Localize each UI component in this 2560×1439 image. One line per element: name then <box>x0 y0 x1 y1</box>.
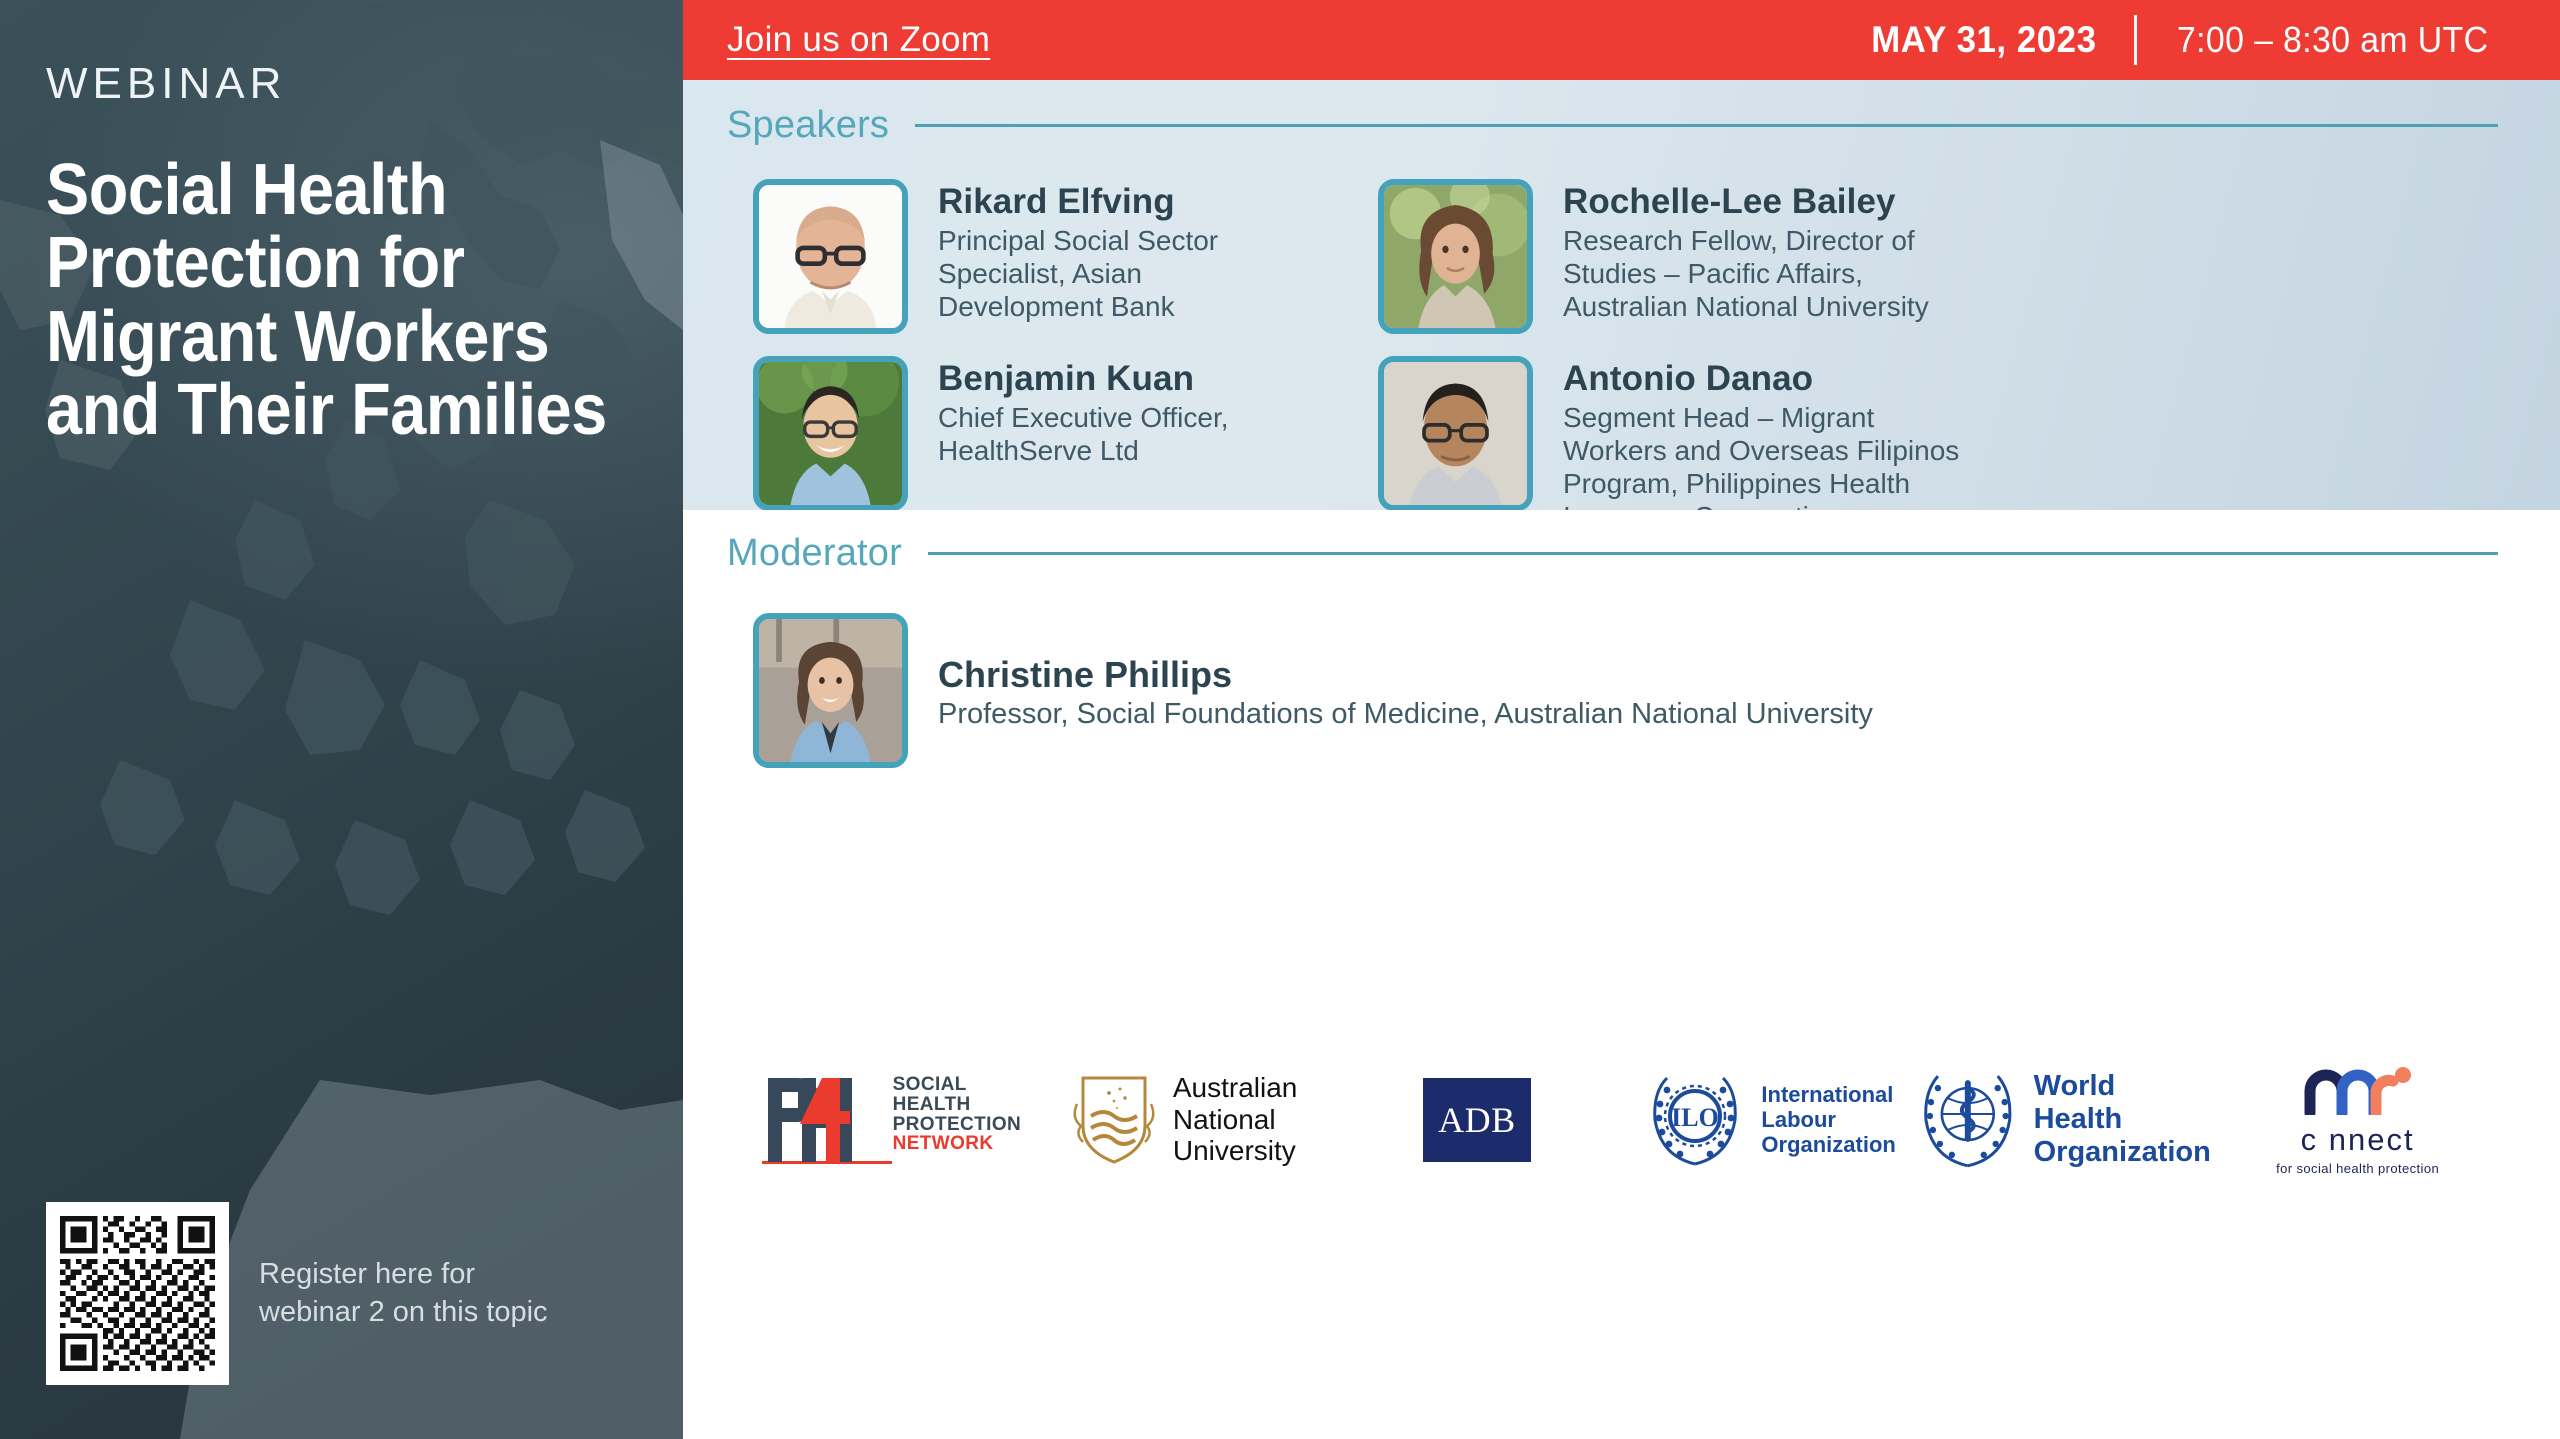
role-line: HealthServe Ltd <box>938 434 1229 467</box>
avatar <box>753 179 908 334</box>
logo-slot: ADB <box>1331 1060 1624 1180</box>
speaker-role: Research Fellow, Director of Studies – P… <box>1563 224 1929 323</box>
who-wordmark: World Health Organization <box>2034 1070 2212 1169</box>
speaker-role: Chief Executive Officer, HealthServe Ltd <box>938 401 1229 467</box>
logo-slot: SOCIAL HEALTH PROTECTION NETWORK <box>745 1060 1038 1180</box>
content-panel: Join us on Zoom MAY 31, 2023 7:00 – 8:30… <box>683 0 2560 1439</box>
speakers-heading: Speakers <box>727 80 2560 147</box>
p4h-word: SOCIAL <box>893 1075 1022 1095</box>
ilo-word: Organization <box>1761 1132 1895 1157</box>
role-line: Workers and Overseas Filipinos <box>1563 434 1959 467</box>
p4h-wordmark: SOCIAL HEALTH PROTECTION NETWORK <box>893 1075 1022 1163</box>
moderator-heading: Moderator <box>727 510 2560 575</box>
webinar-poster: WEBINAR Social Health Protection for Mig… <box>0 0 2560 1439</box>
speaker-card: Rikard Elfving Principal Social Sector S… <box>753 179 1378 334</box>
svg-text:ILO: ILO <box>1672 1103 1720 1132</box>
title-line-4: and Their Families <box>46 374 636 447</box>
logo-slot: Australian National University <box>1038 1060 1331 1180</box>
register-text: Register here for webinar 2 on this topi… <box>259 1256 548 1330</box>
role-line: Research Fellow, Director of <box>1563 224 1929 257</box>
portrait-rochelle-lee-bailey <box>1384 185 1527 328</box>
ilo-word: International <box>1761 1082 1895 1107</box>
moderator-name: Christine Phillips <box>938 655 1873 695</box>
moderator-card: Christine Phillips Professor, Social Fou… <box>727 575 2560 768</box>
speaker-card: Antonio Danao Segment Head – Migrant Wor… <box>1378 356 2498 533</box>
anu-crest-icon <box>1071 1074 1157 1166</box>
role-line: Development Bank <box>938 290 1218 323</box>
portrait-christine-phillips <box>759 619 902 762</box>
moderator-label: Moderator <box>727 532 902 575</box>
speaker-name: Benjamin Kuan <box>938 360 1229 398</box>
event-meta: MAY 31, 2023 7:00 – 8:30 am UTC <box>1864 15 2498 65</box>
role-line: Specialist, Asian <box>938 257 1218 290</box>
who-word: World Health <box>2034 1070 2212 1136</box>
speaker-info: Antonio Danao Segment Head – Migrant Wor… <box>1563 356 1959 533</box>
logo-slot: ILO International Labour Organization <box>1623 1060 1916 1180</box>
role-line: Segment Head – Migrant <box>1563 401 1959 434</box>
who-emblem-icon <box>1916 1068 2020 1172</box>
anu-word: Australian <box>1173 1072 1298 1104</box>
speaker-name: Antonio Danao <box>1563 360 1959 398</box>
avatar <box>753 356 908 511</box>
international-labour-organization-logo: ILO International Labour Organization <box>1643 1068 1895 1172</box>
title-panel: WEBINAR Social Health Protection for Mig… <box>0 0 683 1439</box>
role-line: Chief Executive Officer, <box>938 401 1229 434</box>
speaker-info: Rochelle-Lee Bailey Research Fellow, Dir… <box>1563 179 1929 323</box>
speaker-name: Rikard Elfving <box>938 183 1218 221</box>
avatar <box>1378 179 1533 334</box>
title-line-1: Social Health <box>46 154 636 227</box>
speaker-card: Benjamin Kuan Chief Executive Officer, H… <box>753 356 1378 533</box>
section-divider <box>915 124 2498 127</box>
speakers-grid: Rikard Elfving Principal Social Sector S… <box>727 147 2560 533</box>
p4h-word: HEALTH <box>893 1095 1022 1115</box>
role-line: Program, Philippines Health <box>1563 467 1959 500</box>
speakers-section: Speakers <box>683 80 2560 510</box>
ilo-word: Labour <box>1761 1107 1895 1132</box>
event-topbar: Join us on Zoom MAY 31, 2023 7:00 – 8:30… <box>683 0 2560 80</box>
world-health-organization-logo: World Health Organization <box>1916 1068 2211 1172</box>
speaker-name: Rochelle-Lee Bailey <box>1563 183 1929 221</box>
join-zoom-link[interactable]: Join us on Zoom <box>727 20 990 60</box>
p4h-logo: SOCIAL HEALTH PROTECTION NETWORK <box>762 1072 1022 1168</box>
connect-logo: c nnect for social health protection <box>2276 1063 2439 1176</box>
portrait-rikard-elfving <box>759 185 902 328</box>
webinar-kicker: WEBINAR <box>46 62 637 106</box>
event-time: 7:00 – 8:30 am UTC <box>2177 19 2488 61</box>
page-title: Social Health Protection for Migrant Wor… <box>46 154 636 448</box>
speakers-label: Speakers <box>727 104 889 147</box>
speaker-info: Rikard Elfving Principal Social Sector S… <box>938 179 1218 323</box>
partner-logos: SOCIAL HEALTH PROTECTION NETWORK <box>683 840 2560 1439</box>
avatar <box>1378 356 1533 511</box>
australian-national-university-logo: Australian National University <box>1071 1072 1298 1167</box>
anu-word: National <box>1173 1104 1298 1136</box>
logo-slot: c nnect for social health protection <box>2211 1060 2504 1180</box>
role-line: Australian National University <box>1563 290 1929 323</box>
p4h-word: NETWORK <box>893 1134 1022 1154</box>
moderator-role: Professor, Social Foundations of Medicin… <box>938 697 1873 732</box>
speaker-info: Benjamin Kuan Chief Executive Officer, H… <box>938 356 1229 467</box>
speaker-card: Rochelle-Lee Bailey Research Fellow, Dir… <box>1378 179 2498 334</box>
register-line-2: webinar 2 on this topic <box>259 1294 548 1331</box>
role-line: Principal Social Sector <box>938 224 1218 257</box>
p4h-mark-svg <box>762 1072 880 1168</box>
logo-slot: World Health Organization <box>1916 1060 2211 1180</box>
anu-word: University <box>1173 1135 1298 1167</box>
event-date: MAY 31, 2023 <box>1871 19 2096 61</box>
qr-code-svg <box>60 1216 215 1371</box>
p4h-word: PROTECTION <box>893 1115 1022 1135</box>
portrait-benjamin-kuan <box>759 362 902 505</box>
role-line: Studies – Pacific Affairs, <box>1563 257 1929 290</box>
register-block: Register here for webinar 2 on this topi… <box>46 1202 637 1385</box>
who-word: Organization <box>2034 1136 2212 1169</box>
avatar <box>753 613 908 768</box>
title-line-3: Migrant Workers <box>46 301 636 374</box>
anu-wordmark: Australian National University <box>1173 1072 1298 1167</box>
adb-logo: ADB <box>1423 1078 1531 1162</box>
connect-tagline: for social health protection <box>2276 1161 2439 1176</box>
moderator-section: Moderator <box>683 510 2560 840</box>
connect-wordmark: c nnect <box>2276 1122 2439 1158</box>
connect-mark-icon <box>2300 1063 2416 1115</box>
section-divider <box>928 552 2498 555</box>
p4h-mark-icon <box>762 1072 880 1168</box>
ilo-emblem-icon: ILO <box>1643 1068 1747 1172</box>
moderator-info: Christine Phillips Professor, Social Fou… <box>938 649 1873 731</box>
speaker-role: Principal Social Sector Specialist, Asia… <box>938 224 1218 323</box>
register-line-1: Register here for <box>259 1256 548 1293</box>
portrait-antonio-danao <box>1384 362 1527 505</box>
qr-code-icon[interactable] <box>46 1202 229 1385</box>
ilo-wordmark: International Labour Organization <box>1761 1082 1895 1157</box>
title-line-2: Protection for <box>46 227 636 300</box>
vertical-divider <box>2134 15 2137 65</box>
